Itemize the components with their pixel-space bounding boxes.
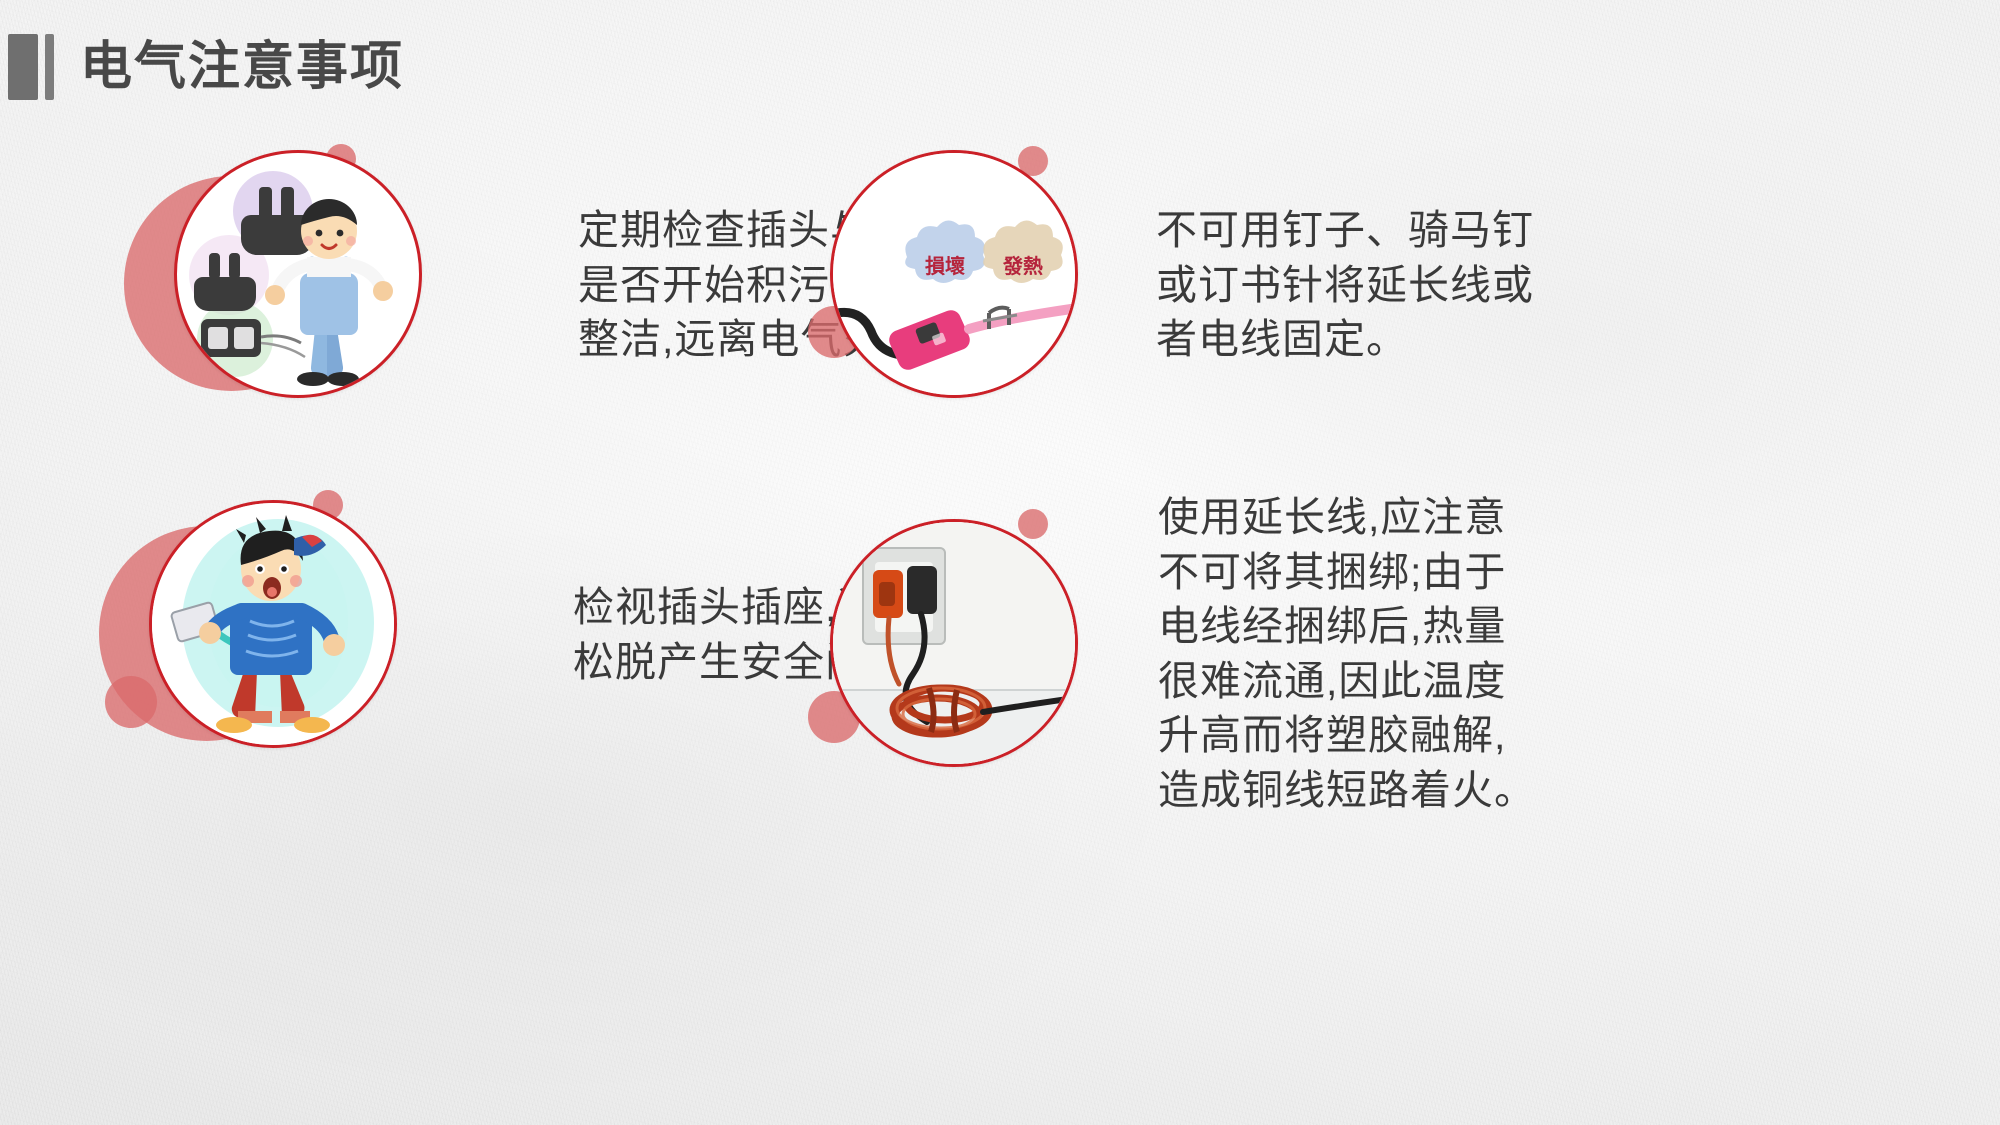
pink-power-strip-icon: 損壞 發熱 (833, 153, 1075, 395)
shocked-boy-plug-icon (152, 503, 394, 745)
decorative-dot-large (105, 676, 157, 728)
page-header: 电气注意事项 (0, 34, 404, 100)
accent-bar-thick-icon (8, 34, 38, 100)
tip-card-2: 損壞 發熱 (800, 140, 1534, 430)
page-title: 电气注意事项 (80, 34, 404, 100)
scene-label-heat: 發熱 (1002, 254, 1043, 278)
plugs-and-boy-icon (177, 153, 419, 395)
circle-photo-frame (149, 500, 397, 748)
scene-label-damage: 損壞 (925, 254, 965, 278)
tip-caption-4: 使用延长线,应注意 不可将其捆绑;由于 电线经捆绑后,热量 很难流通,因此温度 … (1158, 490, 1536, 817)
coiled-extension-cord-icon (833, 522, 1075, 764)
circle-photo-frame (174, 150, 422, 398)
tip-caption-2: 不可用钉子、骑马钉 或订书针将延长线或 者电线固定。 (1156, 203, 1534, 367)
circle-photo-frame: 損壞 發熱 (830, 150, 1078, 398)
title-accent-bars (8, 34, 54, 100)
illustration-plugs-and-boy (130, 140, 450, 430)
tip-card-4: 使用延长线,应注意 不可将其捆绑;由于 电线经捆绑后,热量 很难流通,因此温度 … (800, 490, 1536, 817)
illustration-shocked-boy (105, 490, 425, 780)
accent-bar-thin-icon (45, 34, 54, 100)
slide-canvas: 电气注意事项 (0, 0, 2000, 1125)
circle-photo-frame (830, 519, 1078, 767)
illustration-coiled-cord (800, 509, 1120, 799)
illustration-power-strip: 損壞 發熱 (800, 140, 1120, 430)
